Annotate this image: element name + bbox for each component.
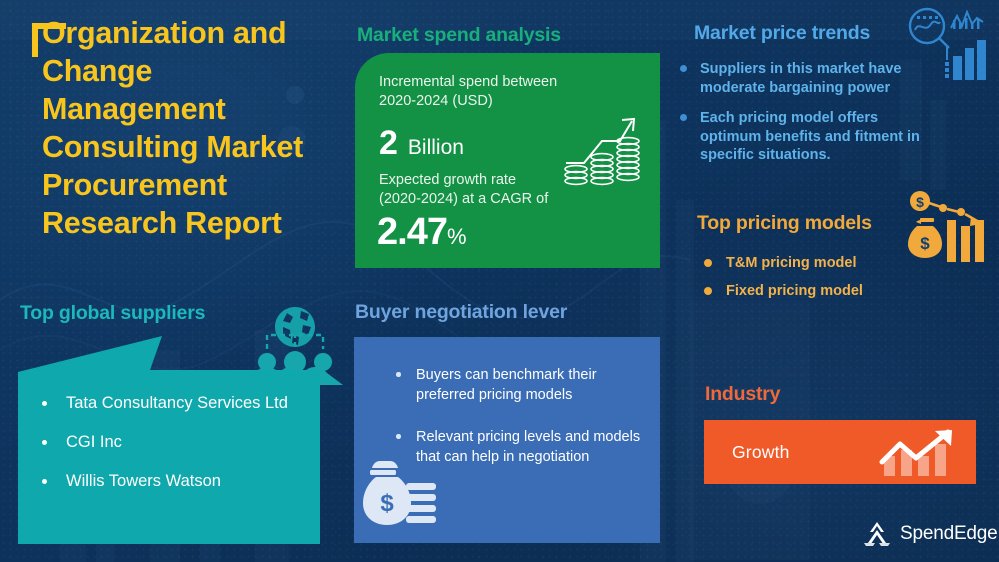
top-pricing-models-heading: Top pricing models bbox=[697, 212, 872, 235]
money-bag-declining-chart-icon: $ $ bbox=[907, 190, 991, 262]
infographic-canvas: Organization and Change Management Consu… bbox=[0, 0, 999, 562]
incremental-spend-value-row: 2 Billion bbox=[379, 126, 464, 160]
money-bag-coins-icon: $ bbox=[362, 459, 442, 529]
svg-text:$: $ bbox=[916, 194, 924, 210]
list-item: Suppliers in this market have moderate b… bbox=[678, 60, 928, 97]
list-item: Tata Consultancy Services Ltd bbox=[36, 388, 306, 418]
growth-arrow-bars-icon bbox=[872, 428, 964, 478]
incremental-spend-value: 2 bbox=[379, 126, 398, 160]
list-item: Buyers can benchmark their preferred pri… bbox=[388, 365, 644, 405]
list-item: Each pricing model offers optimum benefi… bbox=[678, 109, 928, 165]
spendedge-logo: SpendEdge™ bbox=[862, 521, 999, 547]
cagr-percent-symbol: % bbox=[447, 224, 467, 250]
spendedge-chevron-logo-icon bbox=[862, 521, 892, 547]
market-price-trends-heading: Market price trends bbox=[694, 22, 870, 45]
buyer-negotiation-lever-card: Buyers can benchmark their preferred pri… bbox=[354, 337, 660, 543]
cagr-value-row: 2.47 % bbox=[377, 213, 467, 251]
top-pricing-models-list: T&M pricing model Fixed pricing model bbox=[700, 254, 920, 310]
list-item: T&M pricing model bbox=[700, 254, 920, 272]
industry-status-label: Growth bbox=[732, 442, 790, 463]
industry-heading: Industry bbox=[705, 383, 780, 406]
list-item: Willis Towers Watson bbox=[36, 466, 306, 496]
list-item: Fixed pricing model bbox=[700, 282, 920, 300]
buyer-negotiation-lever-heading: Buyer negotiation lever bbox=[355, 301, 567, 324]
page-title-block: Organization and Change Management Consu… bbox=[24, 14, 364, 242]
incremental-spend-label: Incremental spend between 2020-2024 (USD… bbox=[379, 73, 609, 111]
market-spend-analysis-card: Incremental spend between 2020-2024 (USD… bbox=[355, 53, 660, 268]
coins-growth-arrow-icon bbox=[562, 111, 644, 189]
top-global-suppliers-heading: Top global suppliers bbox=[20, 302, 205, 325]
top-global-suppliers-card: Tata Consultancy Services Ltd CGI Inc Wi… bbox=[18, 372, 320, 544]
industry-status-badge: Growth bbox=[704, 420, 976, 484]
page-title: Organization and Change Management Consu… bbox=[24, 14, 364, 242]
buyer-negotiation-lever-list: Buyers can benchmark their preferred pri… bbox=[354, 337, 660, 467]
incremental-spend-unit: Billion bbox=[408, 136, 464, 160]
cagr-value: 2.47 bbox=[377, 213, 447, 251]
list-item: CGI Inc bbox=[36, 427, 306, 457]
svg-text:$: $ bbox=[380, 490, 394, 517]
market-spend-analysis-heading: Market spend analysis bbox=[357, 24, 561, 47]
top-global-suppliers-list: Tata Consultancy Services Ltd CGI Inc Wi… bbox=[18, 372, 320, 496]
svg-text:$: $ bbox=[920, 234, 930, 253]
market-price-trends-list: Suppliers in this market have moderate b… bbox=[678, 60, 928, 177]
logo-wordmark: SpendEdge bbox=[900, 523, 998, 544]
